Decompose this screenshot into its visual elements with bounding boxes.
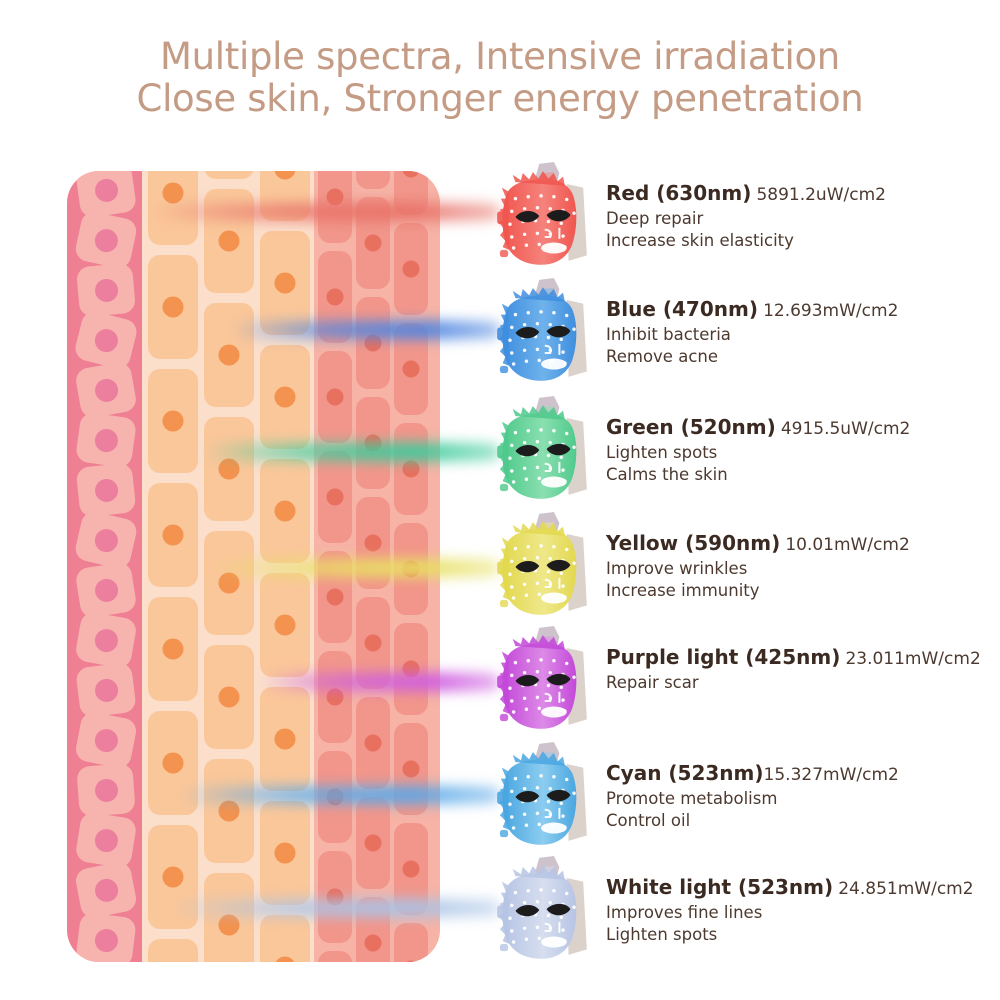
led-face-mask-blue-icon bbox=[488, 276, 596, 388]
cell-nucleus bbox=[93, 677, 119, 703]
spinous-cell bbox=[204, 303, 254, 407]
cell-nucleus bbox=[403, 261, 420, 278]
spinous-cell bbox=[204, 171, 254, 179]
cell-nucleus bbox=[93, 627, 120, 654]
granular-cell bbox=[318, 751, 352, 843]
legend-color-name: Green (520nm) bbox=[606, 415, 776, 439]
cell-nucleus bbox=[327, 189, 344, 206]
granular-cell bbox=[318, 651, 352, 743]
spinous-cell bbox=[148, 255, 198, 359]
legend-item: Blue (470nm) 12.693mW/cm2Inhibit bacteri… bbox=[488, 276, 1000, 392]
spinous-cell bbox=[148, 171, 198, 245]
mask-icon-wrap bbox=[488, 624, 596, 736]
legend-item: Red (630nm) 5891.2uW/cm2Deep repairIncre… bbox=[488, 160, 1000, 276]
granular-cell bbox=[356, 597, 390, 689]
cell-nucleus bbox=[92, 226, 119, 253]
legend-heading: White light (523nm) 24.851mW/cm2 bbox=[606, 874, 1000, 902]
cell-nucleus bbox=[403, 561, 420, 578]
cell-nucleus bbox=[93, 577, 119, 603]
mask-icon-wrap bbox=[488, 854, 596, 966]
mask-icon-wrap bbox=[488, 510, 596, 622]
cell-nucleus bbox=[219, 915, 240, 936]
basal-cell bbox=[74, 860, 139, 920]
spinous-cell bbox=[148, 483, 198, 587]
cell-nucleus bbox=[163, 867, 184, 888]
legend-description-1: Promote metabolism bbox=[606, 788, 1000, 810]
legend-heading: Cyan (523nm)15.327mW/cm2 bbox=[606, 760, 1000, 788]
legend-text: Purple light (425nm) 23.011mW/cm2Repair … bbox=[606, 644, 1000, 694]
spinous-cell bbox=[260, 573, 310, 677]
led-face-mask-purple-icon bbox=[488, 624, 596, 736]
led-face-mask-white-icon bbox=[488, 854, 596, 966]
basal-cell bbox=[74, 811, 137, 869]
cell-nucleus bbox=[365, 435, 382, 452]
cell-nucleus bbox=[163, 525, 184, 546]
cell-nucleus bbox=[365, 535, 382, 552]
cell-nucleus bbox=[219, 801, 240, 822]
legend-item: Green (520nm) 4915.5uW/cm2Lighten spotsC… bbox=[488, 394, 1000, 510]
cell-nucleus bbox=[327, 689, 344, 706]
cell-nucleus bbox=[163, 183, 184, 204]
legend-color-name: Yellow (590nm) bbox=[606, 531, 780, 555]
cell-nucleus bbox=[275, 171, 296, 180]
legend-irradiance-value: 12.693mW/cm2 bbox=[763, 301, 898, 321]
legend-item: Yellow (590nm) 10.01mW/cm2Improve wrinkl… bbox=[488, 510, 1000, 626]
cell-nucleus bbox=[327, 889, 344, 906]
cell-nucleus bbox=[94, 278, 119, 303]
cell-nucleus bbox=[93, 427, 119, 453]
cell-nucleus bbox=[365, 635, 382, 652]
legend-description-2: Lighten spots bbox=[606, 924, 1000, 946]
legend-color-name: White light (523nm) bbox=[606, 875, 833, 899]
granular-cell bbox=[394, 523, 428, 615]
legend-irradiance-value: 4915.5uW/cm2 bbox=[781, 419, 911, 439]
spinous-cell bbox=[260, 459, 310, 563]
legend-text: Cyan (523nm)15.327mW/cm2Promote metaboli… bbox=[606, 760, 1000, 832]
legend-irradiance-value: 15.327mW/cm2 bbox=[764, 765, 899, 785]
cell-nucleus bbox=[275, 957, 296, 963]
legend-item: White light (523nm) 24.851mW/cm2Improves… bbox=[488, 854, 1000, 970]
cell-nucleus bbox=[275, 387, 296, 408]
cell-nucleus bbox=[163, 753, 184, 774]
legend-text: Green (520nm) 4915.5uW/cm2Lighten spotsC… bbox=[606, 414, 1000, 486]
legend-text: White light (523nm) 24.851mW/cm2Improves… bbox=[606, 874, 1000, 946]
cell-nucleus bbox=[219, 231, 240, 252]
legend-description-1: Improve wrinkles bbox=[606, 558, 1000, 580]
cell-nucleus bbox=[275, 729, 296, 750]
legend-text: Yellow (590nm) 10.01mW/cm2Improve wrinkl… bbox=[606, 530, 1000, 602]
cell-nucleus bbox=[92, 526, 120, 554]
spinous-cell bbox=[148, 369, 198, 473]
legend-item: Purple light (425nm) 23.011mW/cm2Repair … bbox=[488, 624, 1000, 740]
spinous-cell bbox=[260, 687, 310, 791]
legend-description-1: Repair scar bbox=[606, 672, 1000, 694]
mask-icon-wrap bbox=[488, 160, 596, 272]
basal-cell bbox=[73, 210, 138, 271]
mask-icon-wrap bbox=[488, 740, 596, 852]
led-face-mask-cyan-icon bbox=[488, 740, 596, 852]
cell-nucleus bbox=[327, 489, 344, 506]
cell-nucleus bbox=[93, 827, 119, 853]
granular-cell bbox=[318, 951, 352, 962]
cell-nucleus bbox=[275, 273, 296, 294]
cell-nucleus bbox=[403, 961, 420, 963]
legend-heading: Yellow (590nm) 10.01mW/cm2 bbox=[606, 530, 1000, 558]
spinous-cell bbox=[148, 597, 198, 701]
cell-nucleus bbox=[163, 297, 184, 318]
basal-cell bbox=[76, 263, 136, 318]
cell-nucleus bbox=[327, 289, 344, 306]
mask-icon-wrap bbox=[488, 394, 596, 506]
spinous-cell bbox=[260, 915, 310, 962]
legend-description-2: Increase skin elasticity bbox=[606, 230, 1000, 252]
legend-irradiance-value: 10.01mW/cm2 bbox=[785, 535, 910, 555]
spinous-cell bbox=[204, 873, 254, 962]
legend-description-1: Inhibit bacteria bbox=[606, 324, 1000, 346]
spinous-cell bbox=[260, 231, 310, 335]
legend-description-2: Control oil bbox=[606, 810, 1000, 832]
basal-cell bbox=[74, 561, 137, 619]
led-face-mask-yellow-icon bbox=[488, 510, 596, 622]
granular-cell bbox=[356, 171, 390, 189]
basal-cell bbox=[76, 763, 135, 817]
legend-heading: Red (630nm) 5891.2uW/cm2 bbox=[606, 180, 1000, 208]
granular-cell bbox=[356, 397, 390, 489]
cell-nucleus bbox=[365, 235, 382, 252]
basal-cell bbox=[74, 361, 138, 420]
cell-nucleus bbox=[275, 615, 296, 636]
cell-nucleus bbox=[365, 835, 382, 852]
basal-cell bbox=[75, 662, 137, 718]
granular-cell bbox=[318, 251, 352, 343]
cell-nucleus bbox=[327, 589, 344, 606]
spinous-cell bbox=[148, 711, 198, 815]
basal-cell bbox=[74, 710, 139, 770]
legend-description-1: Deep repair bbox=[606, 208, 1000, 230]
basal-cell bbox=[75, 411, 137, 468]
cell-nucleus bbox=[219, 573, 240, 594]
legend-irradiance-value: 23.011mW/cm2 bbox=[845, 649, 980, 669]
title-line-2: Close skin, Stronger energy penetration bbox=[0, 78, 1000, 120]
basal-layer bbox=[67, 171, 142, 962]
granular-cell bbox=[318, 171, 352, 243]
legend-color-name: Red (630nm) bbox=[606, 181, 751, 205]
legend-heading: Purple light (425nm) 23.011mW/cm2 bbox=[606, 644, 1000, 672]
mask-icon-wrap bbox=[488, 276, 596, 388]
cell-nucleus bbox=[403, 361, 420, 378]
cell-nucleus bbox=[403, 171, 420, 178]
spinous-layer bbox=[142, 171, 314, 962]
spinous-cell bbox=[260, 345, 310, 449]
legend-color-name: Cyan (523nm) bbox=[606, 761, 764, 785]
granular-cell bbox=[318, 851, 352, 943]
cell-nucleus bbox=[93, 877, 120, 904]
cell-nucleus bbox=[403, 761, 420, 778]
legend-text: Red (630nm) 5891.2uW/cm2Deep repairIncre… bbox=[606, 180, 1000, 252]
legend-description-1: Improves fine lines bbox=[606, 902, 1000, 924]
cell-nucleus bbox=[327, 389, 344, 406]
led-face-mask-green-icon bbox=[488, 394, 596, 506]
cell-nucleus bbox=[93, 177, 119, 203]
granular-layer bbox=[314, 171, 440, 962]
cell-nucleus bbox=[275, 501, 296, 522]
cell-nucleus bbox=[365, 935, 382, 952]
spinous-cell bbox=[260, 801, 310, 905]
legend-text: Blue (470nm) 12.693mW/cm2Inhibit bacteri… bbox=[606, 296, 1000, 368]
legend-description-2: Calms the skin bbox=[606, 464, 1000, 486]
granular-cell bbox=[356, 497, 390, 589]
cell-nucleus bbox=[365, 335, 382, 352]
basal-cell bbox=[75, 171, 137, 219]
granular-cell bbox=[318, 451, 352, 543]
cell-nucleus bbox=[403, 861, 420, 878]
cell-nucleus bbox=[93, 727, 120, 754]
granular-cell bbox=[356, 197, 390, 289]
cell-nucleus bbox=[163, 411, 184, 432]
legend-description-2: Increase immunity bbox=[606, 580, 1000, 602]
legend-irradiance-value: 24.851mW/cm2 bbox=[838, 879, 973, 899]
cell-nucleus bbox=[94, 778, 119, 803]
legend-item: Cyan (523nm)15.327mW/cm2Promote metaboli… bbox=[488, 740, 1000, 856]
basal-cell bbox=[73, 309, 139, 371]
cell-nucleus bbox=[275, 843, 296, 864]
granular-cell bbox=[356, 297, 390, 389]
spinous-cell bbox=[204, 645, 254, 749]
granular-cell bbox=[356, 697, 390, 789]
cell-nucleus bbox=[93, 927, 119, 953]
legend-irradiance-value: 5891.2uW/cm2 bbox=[756, 185, 886, 205]
basal-cell bbox=[73, 509, 139, 570]
granular-cell bbox=[394, 823, 428, 915]
granular-cell bbox=[394, 223, 428, 315]
granular-cell bbox=[394, 723, 428, 815]
granular-cell bbox=[394, 323, 428, 415]
basal-cell bbox=[75, 912, 137, 962]
legend-description-2: Remove acne bbox=[606, 346, 1000, 368]
spinous-cell bbox=[204, 417, 254, 521]
cell-nucleus bbox=[403, 661, 420, 678]
cell-nucleus bbox=[327, 789, 344, 806]
granular-cell bbox=[394, 423, 428, 515]
legend-heading: Green (520nm) 4915.5uW/cm2 bbox=[606, 414, 1000, 442]
title-line-1: Multiple spectra, Intensive irradiation bbox=[0, 36, 1000, 78]
cell-nucleus bbox=[403, 461, 420, 478]
legend-description-1: Lighten spots bbox=[606, 442, 1000, 464]
spinous-cell bbox=[260, 171, 310, 221]
cell-nucleus bbox=[219, 459, 240, 480]
granular-cell bbox=[318, 551, 352, 643]
led-face-mask-red-icon bbox=[488, 160, 596, 272]
spinous-cell bbox=[204, 189, 254, 293]
cell-nucleus bbox=[93, 377, 120, 404]
spinous-cell bbox=[204, 759, 254, 863]
cell-nucleus bbox=[219, 687, 240, 708]
basal-cell bbox=[76, 462, 137, 518]
spinous-cell bbox=[148, 939, 198, 962]
cell-nucleus bbox=[219, 345, 240, 366]
basal-cell bbox=[74, 611, 138, 670]
legend-heading: Blue (470nm) 12.693mW/cm2 bbox=[606, 296, 1000, 324]
granular-cell bbox=[394, 171, 428, 215]
legend-color-name: Purple light (425nm) bbox=[606, 645, 840, 669]
granular-cell bbox=[318, 351, 352, 443]
spinous-cell bbox=[204, 531, 254, 635]
cell-nucleus bbox=[365, 735, 382, 752]
legend-color-name: Blue (470nm) bbox=[606, 297, 758, 321]
cell-nucleus bbox=[92, 326, 120, 354]
cell-nucleus bbox=[93, 477, 118, 502]
page-title: Multiple spectra, Intensive irradiation … bbox=[0, 36, 1000, 120]
granular-cell bbox=[394, 623, 428, 715]
spinous-cell bbox=[148, 825, 198, 929]
granular-cell bbox=[356, 797, 390, 889]
cell-nucleus bbox=[163, 639, 184, 660]
skin-cross-section-diagram bbox=[67, 171, 440, 962]
granular-cell bbox=[356, 897, 390, 962]
granular-cell bbox=[394, 923, 428, 962]
